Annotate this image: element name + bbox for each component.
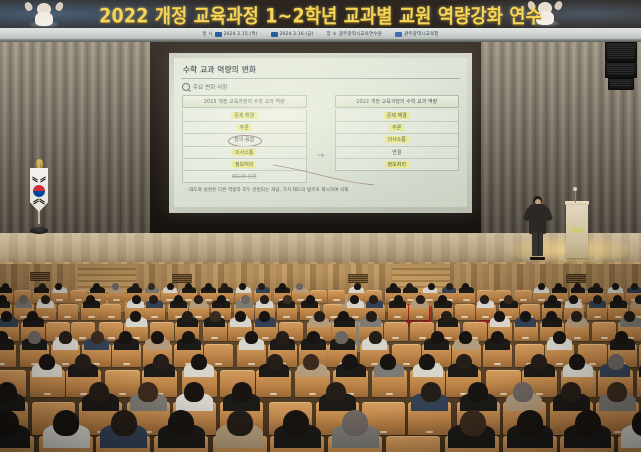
audience-member-head	[520, 311, 531, 322]
cell-label: 의사소통	[232, 149, 256, 156]
korean-flag-icon	[30, 168, 48, 212]
audience-member-head	[459, 331, 472, 344]
audience-member-head	[194, 295, 203, 304]
audience-member-head	[468, 382, 488, 402]
presentation-slide: 수학 교과 역량의 변화 주요 변화 사항 2015 개정 교육과정의 수학 교…	[174, 58, 467, 207]
audience-member-head	[149, 295, 158, 304]
audience-member-head	[167, 283, 174, 290]
audience-member-head	[342, 410, 368, 436]
audience-member-head	[0, 331, 8, 344]
audience-member-head	[119, 331, 132, 344]
audience-member-head	[2, 283, 9, 290]
audience-member-head	[296, 283, 303, 290]
banner-place-label: 장 소	[327, 31, 337, 37]
audience-member-head	[335, 331, 348, 344]
audience-member-head	[456, 354, 472, 370]
audience-member-head	[553, 331, 566, 344]
audience-member-head	[624, 311, 635, 322]
banner-organizer: 광주광역시교육청	[395, 31, 439, 37]
cell-2022-0: 문제 해결	[336, 110, 459, 121]
audience-member-head	[111, 410, 137, 436]
column-2015-body: 문제 해결 추론 창의·융합 의사소통 정보처리 태도와 실천	[182, 110, 307, 183]
magnifier-icon	[182, 83, 190, 91]
stage-curtain-left	[0, 41, 150, 233]
audience-member-head	[390, 283, 397, 290]
speaker-top-icon	[605, 42, 637, 62]
audience-area	[0, 264, 641, 452]
audience-member-head	[130, 311, 141, 322]
cell-2015-4: 정보처리	[183, 158, 306, 170]
audience-member-head	[342, 354, 358, 370]
audience-member-head	[369, 331, 382, 344]
audience-member-head	[239, 283, 246, 290]
audience-member-head	[27, 311, 38, 322]
banner-date-2: 2024.2.16.(금)	[271, 31, 314, 37]
audience-member-head	[531, 354, 547, 370]
cell-2015-3: 의사소통	[183, 146, 306, 158]
calendar-icon	[215, 32, 222, 37]
audience-member-head	[569, 295, 578, 304]
audience-member-head	[350, 295, 359, 304]
audience-member-head	[446, 283, 453, 290]
audience-member-head	[480, 295, 489, 304]
audience-member-head	[221, 283, 228, 290]
audience-member-head	[517, 410, 543, 436]
audience-member-head	[241, 295, 250, 304]
cell-label: 태도와 실천	[229, 173, 260, 180]
wall-vent-2	[172, 274, 192, 283]
cell-label: 추론	[237, 124, 252, 131]
wall-vent-1	[30, 272, 50, 281]
audience-member-head	[314, 311, 325, 322]
audience-member-head	[431, 331, 444, 344]
audience-member-head	[0, 382, 17, 402]
presenter-torso	[529, 204, 546, 234]
auditorium-seat	[58, 304, 78, 320]
audience-member-head	[132, 295, 141, 304]
banner-place-value: 광주광역시교육연수원	[339, 31, 382, 37]
audience-member-head	[380, 354, 396, 370]
audience-member-head	[538, 283, 545, 290]
audience-member-head	[438, 295, 447, 304]
audience-member-head	[631, 283, 638, 290]
audience-member-head	[571, 311, 582, 322]
slide-title-divider	[181, 78, 460, 79]
cell-2015-5: 태도와 실천	[183, 170, 306, 182]
audience-member-head	[494, 311, 505, 322]
audience-member-head	[569, 354, 585, 370]
audience-member-head	[132, 283, 139, 290]
audience-member-head	[419, 354, 435, 370]
audience-member-head	[191, 354, 207, 370]
audience-member-head	[279, 283, 286, 290]
banner-date-value-2: 2024.2.16.(금)	[280, 31, 314, 37]
cell-label: 정보처리	[232, 161, 256, 168]
banner-place: 장 소 광주광역시교육연수원	[327, 31, 382, 37]
audience-member-head	[112, 283, 119, 290]
slide-note: - 태도와 실천은 다른 역량과 모두 관련되는 개념, 가치·태도의 범주로 …	[180, 183, 461, 193]
slide-section-label: 주요 변화 사항	[193, 83, 227, 91]
audience-member-head	[91, 331, 104, 344]
audience-member-head	[303, 354, 319, 370]
korean-flag-stand	[26, 162, 52, 234]
audience-member-head	[513, 382, 533, 402]
cell-2022-1: 추론	[336, 121, 459, 133]
cell-2015-0: 문제 해결	[183, 110, 306, 121]
audience-member-head	[613, 295, 622, 304]
audience-member-head	[548, 295, 557, 304]
audience-member-head	[593, 295, 602, 304]
audience-member-head	[462, 283, 469, 290]
event-banner: 2022 개정 교육과정 1~2학년 교과별 교원 역량강화 연수	[0, 0, 641, 28]
audience-member-head	[148, 283, 155, 290]
auditorium-seat	[101, 304, 121, 320]
projection-screen: 수학 교과 역량의 변화 주요 변화 사항 2015 개정 교육과정의 수학 교…	[169, 53, 472, 213]
audience-member-head	[182, 331, 195, 344]
audience-member-head	[205, 283, 212, 290]
audience-member-head	[59, 331, 72, 344]
audience-member-head	[267, 354, 283, 370]
audience-member-head	[306, 295, 315, 304]
audience-member-head	[39, 354, 55, 370]
audience-member-head	[561, 382, 581, 402]
audience-member-head	[635, 295, 641, 304]
podium-emblem	[570, 227, 584, 233]
audience-member-head	[593, 283, 600, 290]
audience-member-head	[441, 311, 452, 322]
cell-label: 문제 해결	[231, 112, 257, 119]
audience-member-head	[86, 295, 95, 304]
cell-label: 추론	[389, 124, 404, 131]
audience-member-head	[1, 311, 12, 322]
wall-vent-3	[348, 274, 368, 283]
slide-section-label-row: 주요 변화 사항	[180, 83, 461, 91]
audience-member-head	[608, 354, 624, 370]
audience-member-head	[174, 295, 183, 304]
microphone-icon	[575, 190, 576, 203]
banner-title: 2022 개정 교육과정 1~2학년 교과별 교원 역량강화 연수	[0, 1, 641, 28]
audience-member-head	[575, 410, 601, 436]
audience-member-head	[326, 382, 346, 402]
auditorium-seat	[384, 322, 408, 341]
slide-title: 수학 교과 역량의 변화	[180, 62, 461, 78]
cell-2022-3: 연결	[336, 146, 459, 158]
banner-subtitle-row: 일 시 2024.2.15.(목) 2024.2.16.(금) 장 소 광주광역…	[0, 29, 641, 40]
audience-member-head	[151, 331, 164, 344]
audience-member-head	[491, 331, 504, 344]
audience-member-head	[421, 382, 441, 402]
audience-member-head	[153, 354, 169, 370]
audience-member-head	[416, 295, 425, 304]
banner-organizer-value: 광주광역시교육청	[404, 31, 439, 37]
podium-top	[565, 201, 589, 205]
audience-member-head	[366, 311, 377, 322]
cell-label: 창의·융합	[231, 136, 257, 143]
audience-member-head	[184, 382, 204, 402]
audience-member-head	[41, 295, 50, 304]
audience-member-head	[0, 295, 7, 304]
audience-member-head	[210, 311, 221, 322]
audience-member-head	[307, 331, 320, 344]
banner-date-label: 일 시	[202, 31, 212, 37]
audience-member-head	[258, 283, 265, 290]
audience-member-head	[93, 283, 100, 290]
banner-date-1: 일 시 2024.2.15.(목)	[202, 31, 257, 37]
auditorium-seat	[386, 436, 440, 452]
wall-vent-4	[566, 274, 586, 283]
audience-member-head	[217, 295, 226, 304]
audience-member-head	[369, 295, 378, 304]
auditorium-seat	[455, 304, 475, 320]
slide-comparison-columns: 2015 개정 교육과정의 수학 교과 역량 문제 해결 추론 창의·융합 의사…	[180, 95, 461, 183]
audience-member-head	[394, 295, 403, 304]
audience-member-head	[504, 295, 513, 304]
audience-member-head	[283, 295, 292, 304]
audience-member-head	[89, 382, 109, 402]
column-2022-body: 문제 해결 추론 의사소통 연결 정보처리	[335, 110, 460, 171]
audience-member-head	[283, 410, 309, 436]
audience-member-head	[227, 410, 253, 436]
cell-label: 문제 해결	[384, 112, 410, 119]
audience-member-head	[245, 331, 258, 344]
speaker-bottom-icon	[608, 78, 634, 90]
cell-2015-2: 창의·융합	[183, 133, 306, 145]
audience-member-head	[615, 331, 628, 344]
audience-member-head	[39, 283, 46, 290]
cell-label: 정보처리	[385, 161, 409, 168]
audience-member-head	[259, 311, 270, 322]
cell-2015-1: 추론	[183, 121, 306, 133]
transition-arrow-icon: →	[314, 118, 328, 161]
calendar-icon-2	[271, 32, 278, 37]
audience-member-head	[555, 283, 562, 290]
audience-member-head	[546, 311, 557, 322]
column-2022-header: 2022 개정 교육과정의 수학 교과 역량	[335, 95, 460, 108]
organization-logo-icon	[395, 32, 402, 37]
audience-member-head	[182, 311, 193, 322]
audience-member-head	[612, 283, 619, 290]
cell-label: 연결	[389, 149, 404, 156]
audience-member-head	[75, 354, 91, 370]
presenter-legs	[532, 232, 543, 256]
auditorium-seat	[515, 290, 532, 303]
presenter	[528, 196, 548, 258]
banner-date-value: 2024.2.15.(목)	[224, 31, 258, 37]
audience-member-head	[607, 382, 627, 402]
audience-member-head	[338, 311, 349, 322]
flag-base	[30, 227, 48, 234]
cell-label: 의사소통	[385, 136, 409, 143]
audience-member-head	[138, 382, 158, 402]
presenter-shoes	[530, 257, 545, 260]
audience-member-head	[232, 382, 252, 402]
seminar-photo-scene: 2022 개정 교육과정 1~2학년 교과별 교원 역량강화 연수 일 시 20…	[0, 0, 641, 452]
audience-member-head	[260, 295, 269, 304]
taegeuk-icon	[33, 185, 45, 197]
audience-member-head	[19, 295, 28, 304]
column-2015-header: 2015 개정 교육과정의 수학 교과 역량	[182, 95, 307, 108]
audience-member-head	[53, 410, 79, 436]
column-2022: 2022 개정 교육과정의 수학 교과 역량 문제 해결 추론 의사소통 연결 …	[335, 95, 460, 171]
auditorium-seat	[328, 290, 345, 303]
column-2015: 2015 개정 교육과정의 수학 교과 역량 문제 해결 추론 창의·융합 의사…	[182, 95, 307, 183]
audience-member-head	[168, 410, 194, 436]
audience-member-head	[428, 283, 435, 290]
audience-member-head	[276, 331, 289, 344]
cell-2022-2: 의사소통	[336, 133, 459, 145]
audience-member-head	[460, 410, 486, 436]
audience-member-head	[235, 311, 246, 322]
audience-member-head	[354, 283, 361, 290]
audience-member-head	[406, 283, 413, 290]
audience-member-head	[28, 331, 41, 344]
cell-2022-4: 정보처리	[336, 158, 459, 170]
speaker-middle-icon	[605, 62, 637, 78]
